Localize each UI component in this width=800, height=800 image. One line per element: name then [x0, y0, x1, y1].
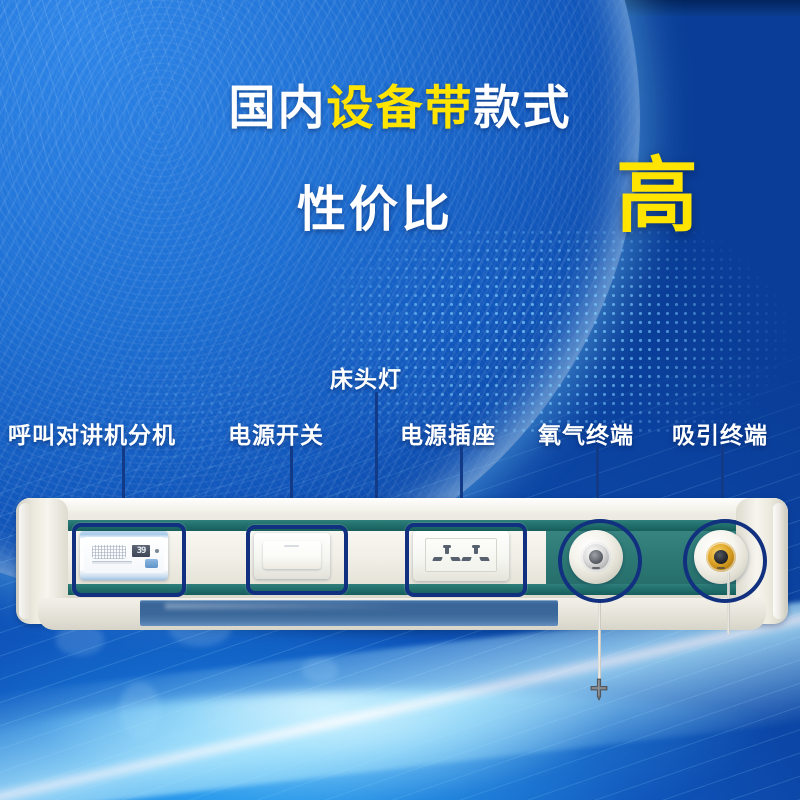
hanging-cord[interactable] — [598, 600, 601, 682]
headline-part3: 款式 — [474, 81, 572, 134]
headline-part1: 国内 — [229, 81, 327, 134]
highlight-box-socket — [405, 523, 527, 597]
highlight-box-intercom — [72, 523, 186, 597]
callout-label-bed-lamp: 床头灯 — [330, 360, 402, 394]
callout-label-suction: 吸引终端 — [672, 416, 768, 450]
headline: 国内设备带款式 — [0, 84, 800, 131]
rail-blue-gloss — [140, 600, 558, 626]
highlight-box-switch — [246, 525, 348, 595]
cross-fitting-icon — [586, 678, 612, 704]
end-cap-left-edge — [19, 503, 31, 619]
subheadline-accent: 高 — [616, 156, 698, 238]
callout-label-intercom: 呼叫对讲机分机 — [8, 416, 176, 450]
headline-highlight: 设备带 — [327, 81, 474, 134]
highlight-circle-oxygen — [558, 519, 642, 603]
promo-banner: 国内设备带款式 性价比 高 呼叫对讲机分机 电源开关 床头灯 电源插座 氧气终端… — [0, 0, 800, 800]
subheadline-text: 性价比 — [297, 170, 453, 241]
callout-label-oxygen: 氧气终端 — [538, 416, 634, 450]
callout-label-switch: 电源开关 — [228, 416, 324, 450]
callout-label-socket: 电源插座 — [400, 416, 496, 450]
highlight-circle-suction — [683, 519, 767, 603]
panel-top-highlight — [16, 498, 788, 514]
subheadline: 性价比 高 — [0, 168, 800, 238]
cord-grip-fitting[interactable] — [586, 678, 612, 704]
end-cap-right-edge — [773, 503, 785, 619]
